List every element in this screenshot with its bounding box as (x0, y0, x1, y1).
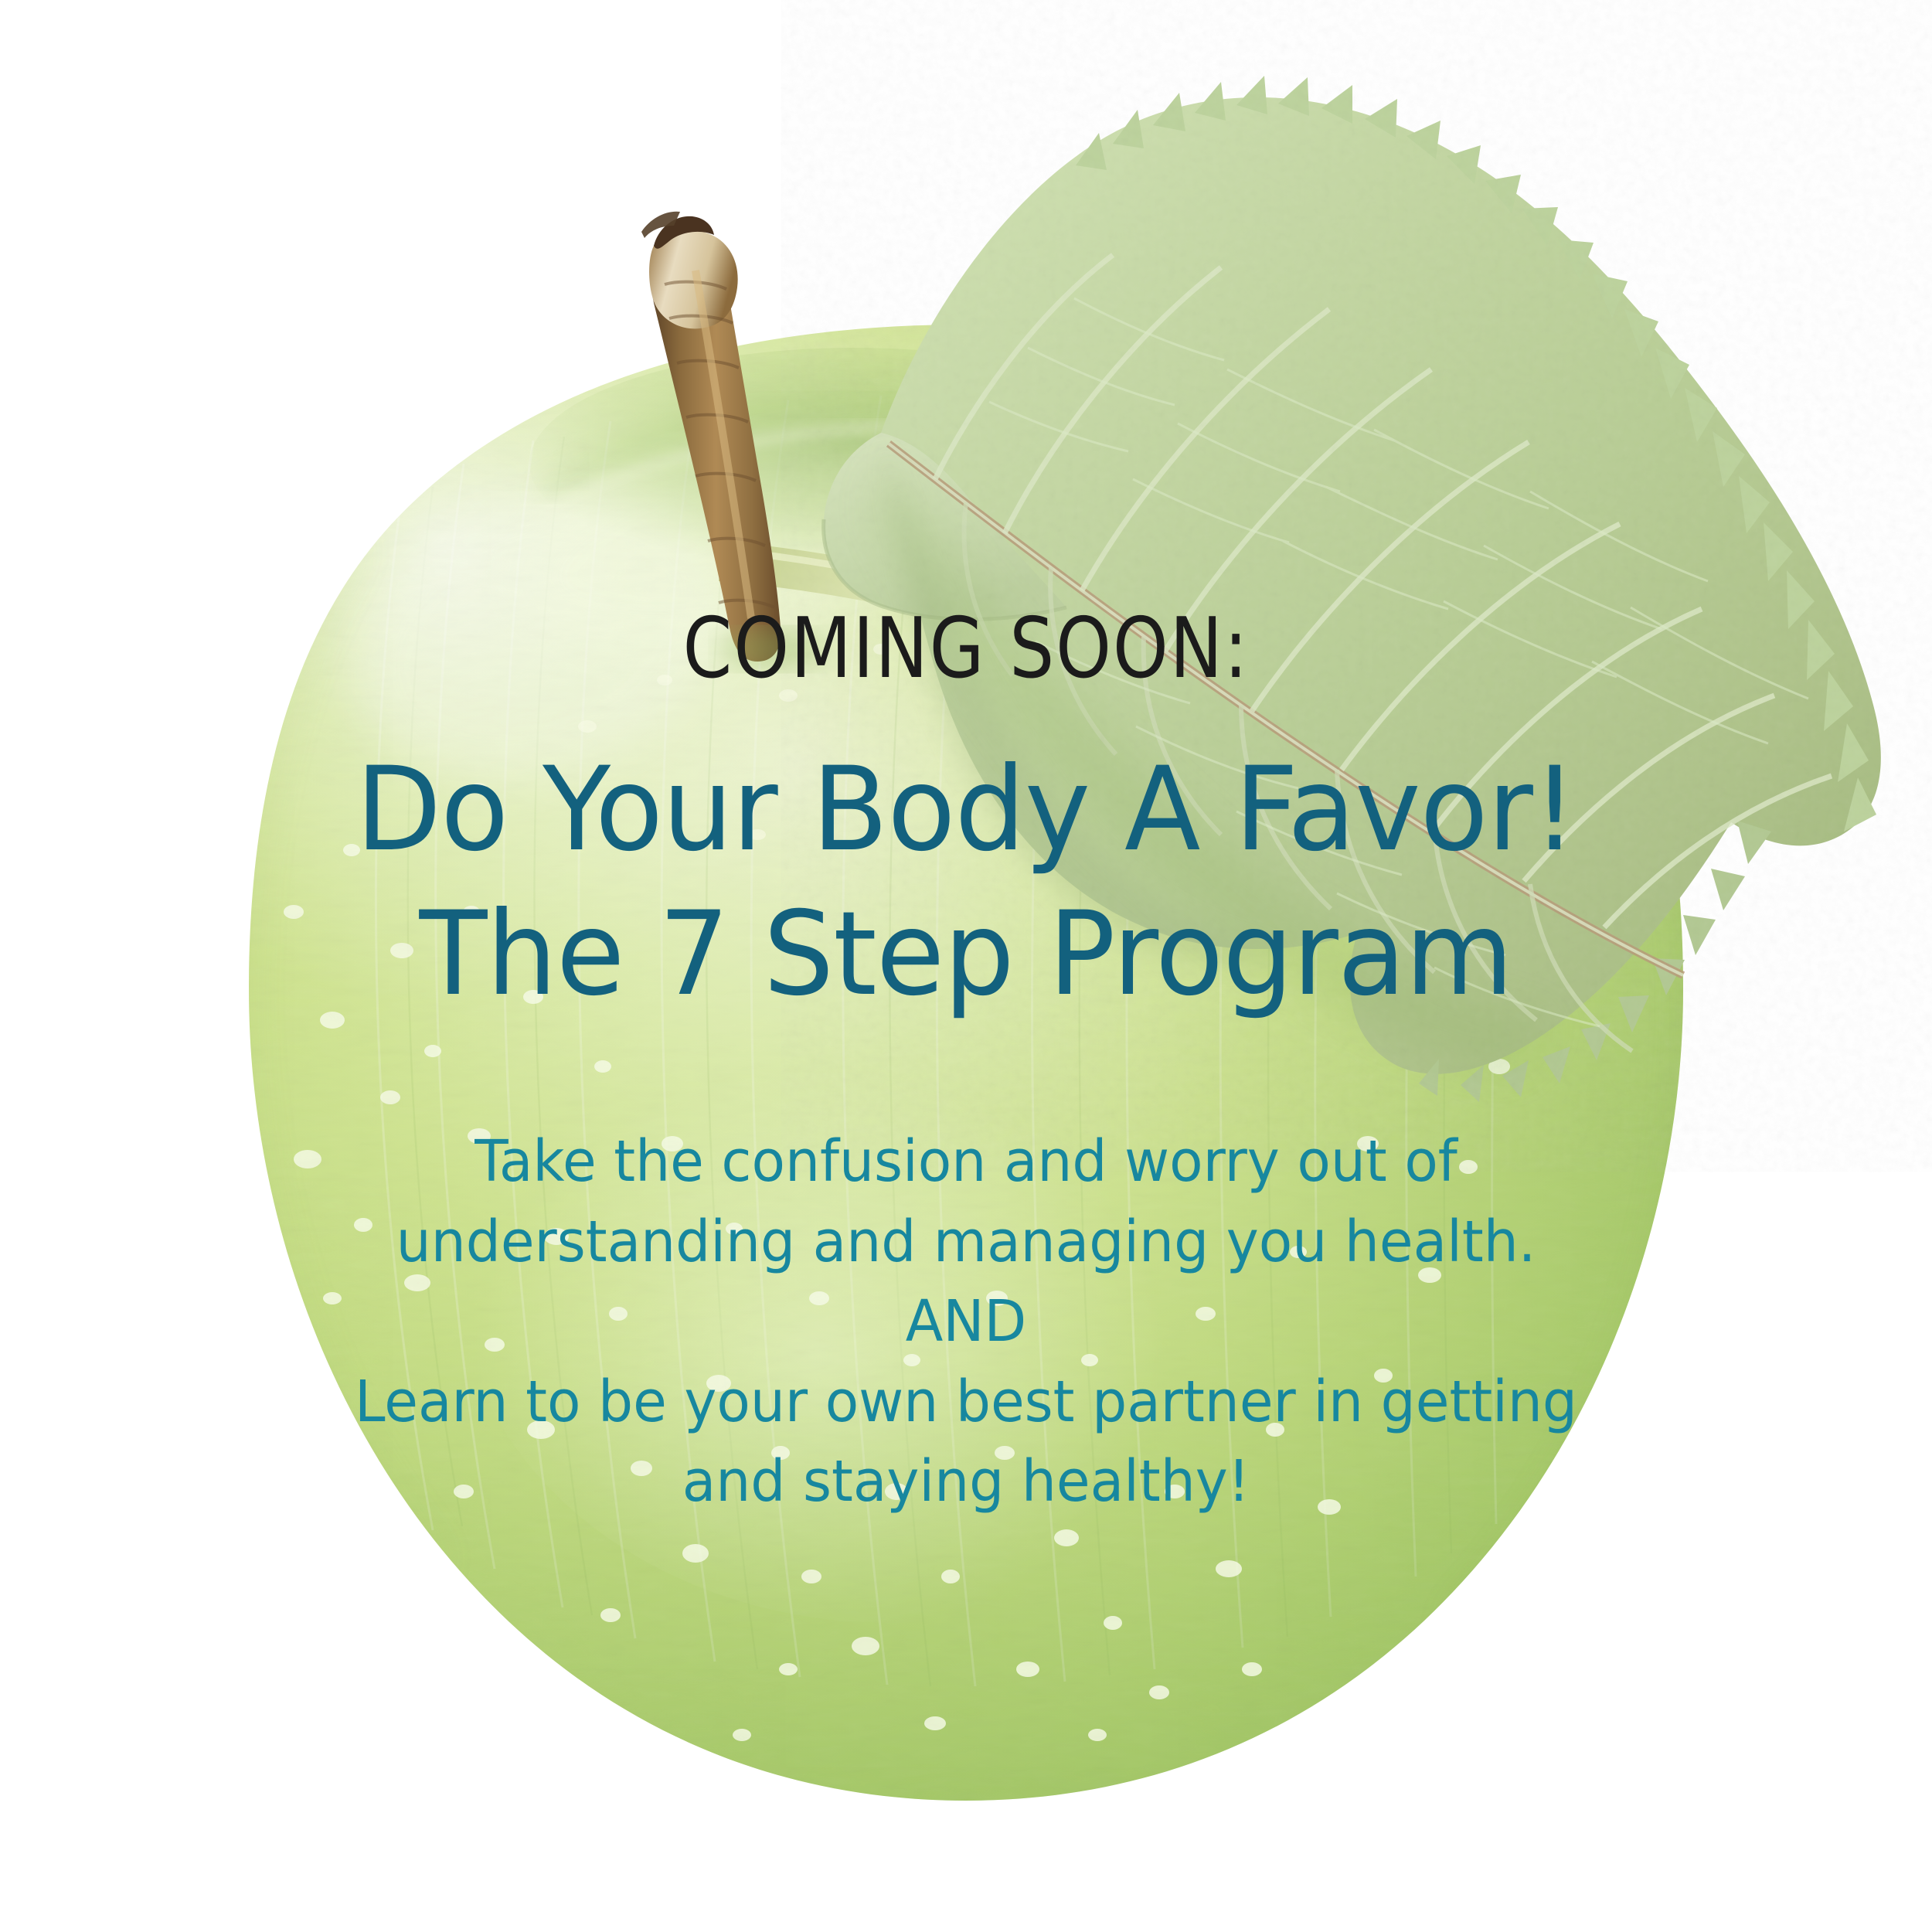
kicker-coming-soon: COMING SOON: (58, 607, 1874, 691)
subcopy-line-2: understanding and managing you health. (39, 1202, 1893, 1283)
subcopy-block: Take the confusion and worry out of unde… (39, 1122, 1893, 1522)
poster-canvas: COMING SOON: Do Your Body A Favor! The 7… (0, 0, 1932, 1932)
headline-line-1: Do Your Body A Favor! (39, 742, 1893, 879)
subcopy-line-1: Take the confusion and worry out of (39, 1122, 1893, 1202)
headline-block: Do Your Body A Favor! The 7 Step Program (39, 742, 1893, 1023)
subcopy-line-5: and staying healthy! (39, 1442, 1893, 1522)
subcopy-line-3-and: AND (39, 1282, 1893, 1362)
headline-line-2: The 7 Step Program (39, 886, 1893, 1023)
subcopy-line-4: Learn to be your own best partner in get… (39, 1362, 1893, 1443)
